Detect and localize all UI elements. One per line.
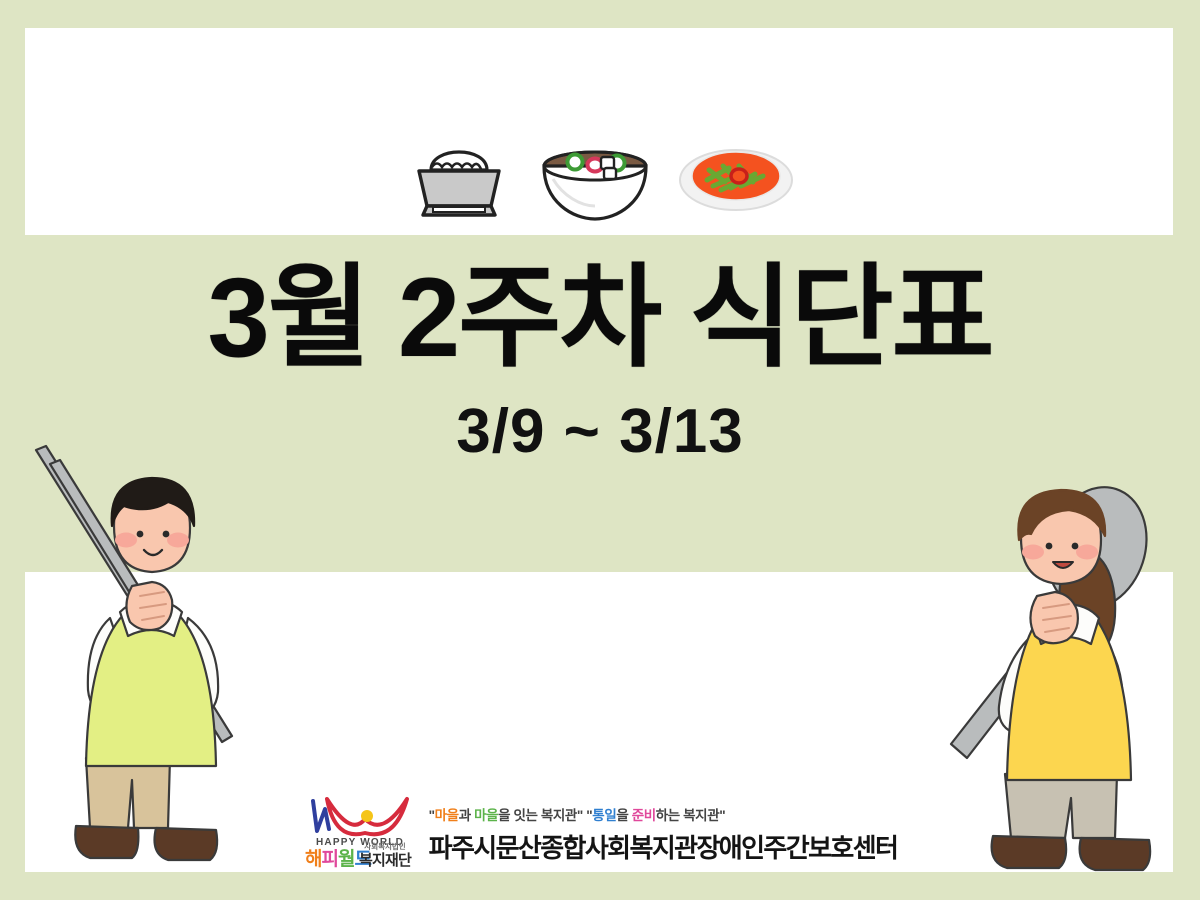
- title-block: 3월 2주차 식단표 3/9 ~ 3/13: [0, 258, 1200, 463]
- organization-name: 파주시문산종합사회복지관장애인주간보호센터: [429, 828, 898, 865]
- slogan-word-unification: 통일: [592, 808, 616, 823]
- happy-world-logo: HAPPY WORLD 해피월드 사회복지법인 복지재단: [303, 789, 421, 869]
- logo-sub-main: 복지재단: [359, 852, 412, 869]
- slogan-word-prepare: 준비: [632, 808, 656, 823]
- slogan-word-village-2: 마을: [474, 808, 498, 823]
- slogan-word-village-1: 마을: [435, 808, 459, 823]
- side-dish-icon: [677, 124, 795, 224]
- food-icon-row: [0, 112, 1200, 224]
- footer-slogan: "마을과 마을을 잇는 복지관" "통일을 준비하는 복지관": [429, 804, 898, 824]
- footer-branding: HAPPY WORLD 해피월드 사회복지법인 복지재단 "마을과 마을을 잇는…: [0, 786, 1200, 872]
- page-title: 3월 2주차 식단표: [0, 258, 1200, 379]
- slogan-quote-open-2: ": [583, 808, 592, 823]
- slogan-text-1a: 과: [459, 808, 474, 823]
- logo-sub-small: 사회복지법인: [364, 841, 405, 851]
- soup-bowl-icon: [535, 124, 655, 224]
- slogan-text-2b: 하는 복지관": [656, 808, 725, 823]
- slogan-text-2a: 을: [616, 808, 631, 823]
- slogan-text-1b: 을 잇는 복지관": [498, 808, 583, 823]
- meal-plan-poster: 3월 2주차 식단표 3/9 ~ 3/13: [0, 0, 1200, 900]
- rice-bowl-icon: [405, 124, 513, 224]
